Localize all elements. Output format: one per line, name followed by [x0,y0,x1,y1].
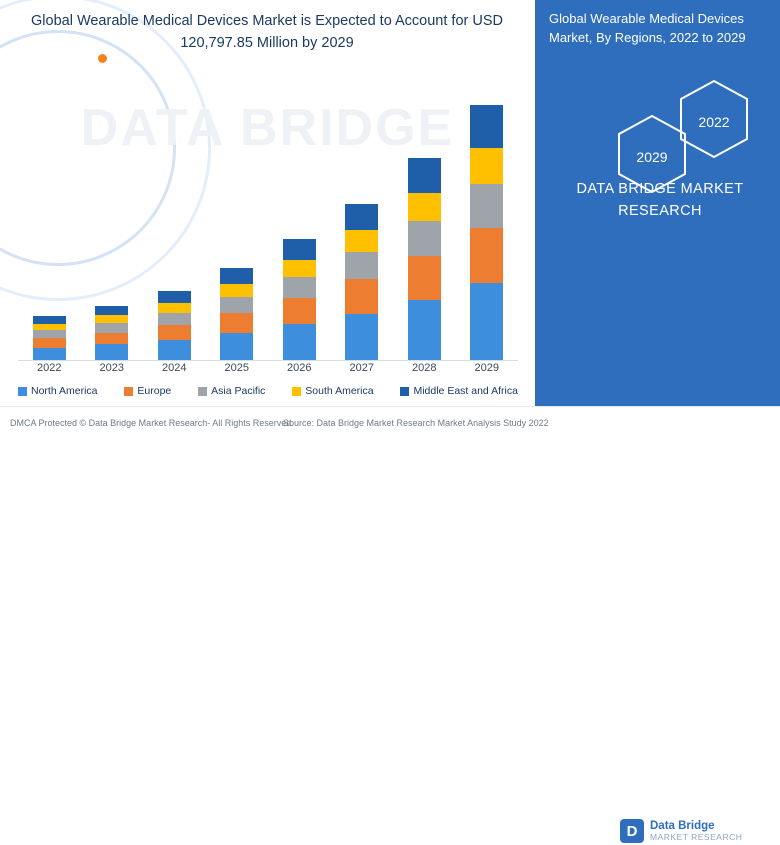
bar-segment[interactable] [470,184,503,228]
x-axis-tick-labels: 20222023202420252026202720282029 [18,362,518,380]
bar-segment[interactable] [345,204,378,230]
dmca-notice: DMCA Protected © Data Bridge Market Rese… [10,418,294,428]
bar-segment[interactable] [408,221,441,256]
company-logo: D Data Bridge MARKET RESEARCH [620,819,770,845]
bar-segment[interactable] [408,300,441,360]
legend-swatch-icon [292,387,301,396]
bar-group[interactable] [345,204,378,360]
legend-item[interactable]: Europe [124,385,171,397]
x-axis-tick: 2025 [214,362,260,380]
bar-segment[interactable] [158,303,191,313]
bar-segment[interactable] [408,193,441,221]
bar-segment[interactable] [345,252,378,279]
chart-panel: Global Wearable Medical Devices Market i… [0,0,535,440]
legend-item[interactable]: South America [292,385,373,397]
bar-segment[interactable] [345,314,378,360]
bar-segment[interactable] [220,284,253,297]
bar-segment[interactable] [470,148,503,184]
bar-segment[interactable] [158,313,191,325]
bar-segment[interactable] [220,268,253,284]
bar-segment[interactable] [283,298,316,324]
source-note: Source: Data Bridge Market Research Mark… [283,418,549,428]
bar-segment[interactable] [95,323,128,333]
bar-segment[interactable] [33,348,66,360]
x-axis-tick: 2026 [276,362,322,380]
bar-group[interactable] [95,306,128,360]
x-axis-tick: 2022 [26,362,72,380]
x-axis-tick: 2028 [401,362,447,380]
footer-bar: DMCA Protected © Data Bridge Market Rese… [0,406,780,441]
side-banner-title: Global Wearable Medical Devices Market, … [549,9,771,47]
legend-label: Asia Pacific [211,385,265,397]
legend-swatch-icon [124,387,133,396]
bar-segment[interactable] [470,228,503,283]
bar-segment[interactable] [33,316,66,324]
legend-swatch-icon [400,387,409,396]
bar-segment[interactable] [95,344,128,360]
hexagon-2029-label: 2029 [615,149,689,165]
bar-group[interactable] [283,239,316,360]
bar-segment[interactable] [95,333,128,344]
bar-segment[interactable] [220,297,253,313]
bar-segment[interactable] [283,239,316,260]
bar-segment[interactable] [95,315,128,323]
logo-title: Data Bridge [650,820,715,832]
bar-segment[interactable] [470,283,503,360]
x-axis-tick: 2027 [339,362,385,380]
side-banner: Global Wearable Medical Devices Market, … [535,0,780,406]
legend-swatch-icon [198,387,207,396]
chart-legend: North AmericaEuropeAsia PacificSouth Ame… [18,382,518,400]
stacked-bar-chart [18,95,518,360]
bar-segment[interactable] [158,325,191,340]
bar-segment[interactable] [408,158,441,192]
bar-segment[interactable] [470,105,503,148]
legend-label: Europe [137,385,171,397]
bar-group[interactable] [470,105,503,360]
bar-segment[interactable] [158,291,191,303]
decorative-dot [98,54,107,63]
bar-segment[interactable] [220,333,253,360]
legend-item[interactable]: Middle East and Africa [400,385,517,397]
page-title: Global Wearable Medical Devices Market i… [18,10,516,54]
bar-segment[interactable] [283,260,316,277]
bar-segment[interactable] [345,279,378,313]
bar-group[interactable] [33,316,66,360]
bar-segment[interactable] [33,330,66,338]
bar-segment[interactable] [283,324,316,360]
bar-group[interactable] [158,291,191,360]
x-axis-tick: 2023 [89,362,135,380]
bar-segment[interactable] [408,256,441,300]
legend-label: South America [305,385,373,397]
bar-group[interactable] [408,158,441,360]
bar-group[interactable] [220,268,253,360]
x-axis-line [18,360,518,361]
bar-segment[interactable] [283,277,316,298]
x-axis-tick: 2029 [464,362,510,380]
brand-name: DATA BRIDGE MARKET RESEARCH [549,178,771,222]
bar-segment[interactable] [345,230,378,252]
bar-segment[interactable] [220,313,253,333]
bar-segment[interactable] [33,338,66,348]
legend-item[interactable]: North America [18,385,98,397]
legend-item[interactable]: Asia Pacific [198,385,265,397]
legend-label: Middle East and Africa [413,385,517,397]
legend-label: North America [31,385,98,397]
bar-segment[interactable] [95,306,128,316]
bar-segment[interactable] [158,340,191,360]
logo-subtitle: MARKET RESEARCH [650,832,742,842]
logo-mark-icon: D [620,819,644,843]
bar-series-container [18,95,518,360]
legend-swatch-icon [18,387,27,396]
x-axis-tick: 2024 [151,362,197,380]
